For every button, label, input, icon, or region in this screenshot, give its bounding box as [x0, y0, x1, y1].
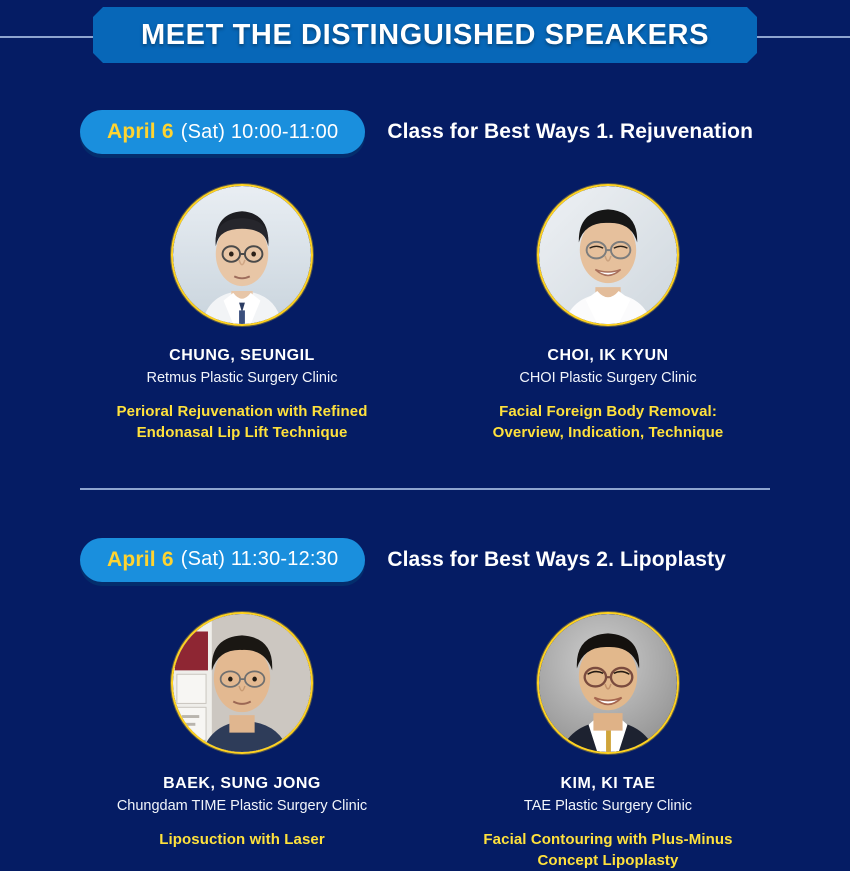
avatar [537, 184, 679, 326]
avatar [171, 612, 313, 754]
session-2-date: April 6 [107, 548, 174, 572]
speaker-name: KIM, KI TAE [463, 774, 753, 793]
session-1-speaker-list: CHUNG, SEUNGIL Retmus Plastic Surgery Cl… [0, 184, 850, 444]
speaker-topic: Facial Foreign Body Removal: Overview, I… [463, 402, 753, 443]
session-1-date-badge: April 6 (Sat) 10:00-11:00 [80, 110, 365, 154]
speaker-card[interactable]: CHUNG, SEUNGIL Retmus Plastic Surgery Cl… [97, 184, 387, 444]
session-2-time: (Sat) 11:30-12:30 [181, 548, 339, 571]
header-rule-left [0, 36, 108, 38]
speaker-photo-choi-ik-kyun [539, 186, 677, 324]
session-block-2: April 6 (Sat) 11:30-12:30 Class for Best… [0, 536, 850, 871]
speaker-card[interactable]: CHOI, IK KYUN CHOI Plastic Surgery Clini… [463, 184, 753, 444]
speaker-photo-baek-sung-jong [173, 614, 311, 752]
section-divider [80, 488, 770, 490]
session-1-header: April 6 (Sat) 10:00-11:00 Class for Best… [0, 108, 850, 156]
speaker-photo-kim-ki-tae [539, 614, 677, 752]
speaker-topic: Perioral Rejuvenation with Refined Endon… [97, 402, 387, 443]
session-1-time: (Sat) 10:00-11:00 [181, 121, 339, 144]
speaker-name: CHOI, IK KYUN [463, 346, 753, 365]
speaker-clinic: Retmus Plastic Surgery Clinic [97, 369, 387, 387]
speaker-name: BAEK, SUNG JONG [97, 774, 387, 793]
session-1-date: April 6 [107, 120, 174, 144]
speaker-name: CHUNG, SEUNGIL [97, 346, 387, 365]
session-block-1: April 6 (Sat) 10:00-11:00 Class for Best… [0, 108, 850, 444]
speaker-card[interactable]: BAEK, SUNG JONG Chungdam TIME Plastic Su… [97, 612, 387, 871]
speaker-clinic: Chungdam TIME Plastic Surgery Clinic [97, 797, 387, 815]
speaker-topic: Liposuction with Laser [97, 830, 387, 851]
speaker-photo-chung-seungil [173, 186, 311, 324]
session-2-header: April 6 (Sat) 11:30-12:30 Class for Best… [0, 536, 850, 584]
header-banner: MEET THE DISTINGUISHED SPEAKERS [93, 7, 757, 63]
avatar [537, 612, 679, 754]
avatar [171, 184, 313, 326]
session-2-title: Class for Best Ways 2. Lipoplasty [387, 548, 726, 572]
session-2-speaker-list: BAEK, SUNG JONG Chungdam TIME Plastic Su… [0, 612, 850, 871]
speaker-clinic: CHOI Plastic Surgery Clinic [463, 369, 753, 387]
session-1-title: Class for Best Ways 1. Rejuvenation [387, 120, 753, 144]
page-header: MEET THE DISTINGUISHED SPEAKERS [0, 0, 850, 70]
session-2-date-badge: April 6 (Sat) 11:30-12:30 [80, 538, 365, 582]
page-title: MEET THE DISTINGUISHED SPEAKERS [141, 19, 709, 52]
speaker-card[interactable]: KIM, KI TAE TAE Plastic Surgery Clinic F… [463, 612, 753, 871]
header-rule-right [742, 36, 850, 38]
speaker-clinic: TAE Plastic Surgery Clinic [463, 797, 753, 815]
speaker-topic: Facial Contouring with Plus-Minus Concep… [463, 830, 753, 871]
